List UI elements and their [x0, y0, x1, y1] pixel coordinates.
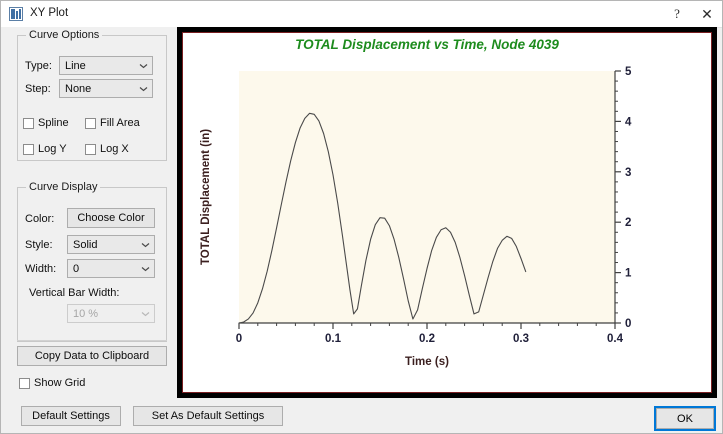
color-label: Color: — [25, 213, 54, 225]
xy-plot-dialog: XY Plot ? ✕ Curve Options Type: Line Ste… — [0, 0, 723, 434]
chart-window-icon — [9, 7, 23, 21]
curve-display-group-label: Curve Display — [26, 181, 100, 193]
chevron-down-icon — [135, 63, 152, 69]
help-button[interactable]: ? — [662, 1, 692, 27]
checkbox-log-y-box — [23, 144, 34, 155]
checkbox-log-y[interactable]: Log Y — [23, 143, 67, 155]
set-as-default-settings-button[interactable]: Set As Default Settings — [133, 406, 283, 426]
plot-frame: TOTAL Displacement vs Time, Node 403900.… — [177, 27, 717, 398]
vertical-bar-width-value: 10 % — [68, 308, 137, 320]
checkbox-show-grid-label: Show Grid — [34, 377, 85, 389]
checkbox-show-grid-box — [19, 378, 30, 389]
copy-data-to-clipboard-button[interactable]: Copy Data to Clipboard — [17, 346, 167, 366]
checkbox-log-y-label: Log Y — [38, 143, 67, 155]
checkbox-log-x[interactable]: Log X — [85, 143, 129, 155]
y-tick-label: 3 — [625, 167, 631, 179]
style-dropdown-value: Solid — [68, 239, 137, 251]
style-label: Style: — [25, 239, 53, 251]
x-tick-label: 0.2 — [419, 333, 435, 345]
type-dropdown-value: Line — [60, 60, 135, 72]
step-dropdown[interactable]: None — [59, 79, 153, 98]
panel-divider — [17, 340, 167, 341]
chevron-down-icon — [137, 266, 154, 272]
width-dropdown[interactable]: 0 — [67, 259, 155, 278]
chevron-down-icon — [137, 311, 154, 317]
x-axis-label: Time (s) — [405, 356, 449, 368]
choose-color-button[interactable]: Choose Color — [67, 208, 155, 228]
chevron-down-icon — [135, 86, 152, 92]
chevron-down-icon — [137, 242, 154, 248]
options-panel: Curve Options Type: Line Step: None Spli… — [1, 27, 177, 434]
vertical-bar-width-dropdown: 10 % — [67, 304, 155, 323]
type-label: Type: — [25, 60, 52, 72]
xy-chart: TOTAL Displacement vs Time, Node 403900.… — [183, 33, 711, 392]
checkbox-fill-area[interactable]: Fill Area — [85, 117, 140, 129]
checkbox-show-grid[interactable]: Show Grid — [19, 377, 85, 389]
checkbox-spline-box — [23, 118, 34, 129]
plot-area: TOTAL Displacement vs Time, Node 403900.… — [182, 32, 712, 393]
style-dropdown[interactable]: Solid — [67, 235, 155, 254]
window-titlebar: XY Plot ? ✕ — [1, 1, 723, 28]
ok-button[interactable]: OK — [656, 408, 714, 429]
checkbox-fill-area-label: Fill Area — [100, 117, 140, 129]
x-tick-label: 0 — [236, 333, 242, 345]
plot-background — [239, 71, 615, 323]
y-tick-label: 5 — [625, 66, 632, 78]
checkbox-fill-area-box — [85, 118, 96, 129]
y-tick-label: 4 — [625, 116, 632, 128]
checkbox-log-x-label: Log X — [100, 143, 129, 155]
y-tick-label: 2 — [625, 217, 631, 229]
x-tick-label: 0.4 — [607, 333, 624, 345]
step-dropdown-value: None — [60, 83, 135, 95]
chart-title: TOTAL Displacement vs Time, Node 4039 — [295, 37, 559, 52]
checkbox-spline[interactable]: Spline — [23, 117, 69, 129]
curve-options-group-label: Curve Options — [26, 29, 102, 41]
y-tick-label: 0 — [625, 318, 631, 330]
checkbox-spline-label: Spline — [38, 117, 69, 129]
type-dropdown[interactable]: Line — [59, 56, 153, 75]
default-settings-button[interactable]: Default Settings — [21, 406, 121, 426]
window-title: XY Plot — [30, 7, 68, 19]
width-dropdown-value: 0 — [68, 263, 137, 275]
y-tick-label: 1 — [625, 268, 632, 280]
checkbox-log-x-box — [85, 144, 96, 155]
x-tick-label: 0.1 — [325, 333, 342, 345]
y-axis-label: TOTAL Displacement (in) — [200, 129, 212, 265]
x-tick-label: 0.3 — [513, 333, 529, 345]
vertical-bar-width-label: Vertical Bar Width: — [29, 287, 119, 299]
step-label: Step: — [25, 83, 51, 95]
close-button[interactable]: ✕ — [692, 1, 722, 27]
width-label: Width: — [25, 263, 56, 275]
